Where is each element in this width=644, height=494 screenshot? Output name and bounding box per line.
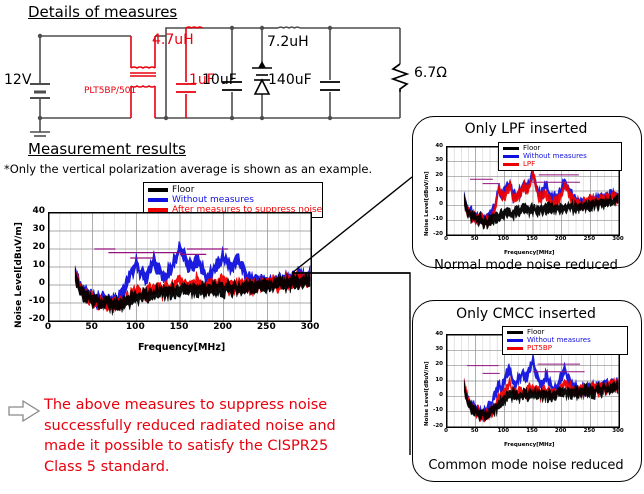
cmcc-chart-legend: Floor Without measures PLT5BP	[502, 326, 628, 355]
page-title-results: Measurement results	[28, 140, 186, 158]
lpf-chart-legend: Floor Without measures LPF	[498, 142, 622, 171]
y-tick-label: 0	[431, 201, 443, 207]
y-tick-label: 40	[431, 143, 443, 149]
legend-swatch-without-measures	[507, 339, 523, 342]
x-tick-label: 50	[461, 428, 489, 434]
x-tick-label: 50	[461, 236, 489, 242]
conclusion-text: The above measures to suppress noise suc…	[44, 395, 404, 477]
x-tick-label: 0	[432, 428, 460, 434]
x-tick-label: 150	[518, 428, 546, 434]
resistor-symbol	[393, 64, 407, 92]
x-tick-label: 0	[34, 322, 62, 332]
cmcc-panel-title: Only CMCC inserted	[412, 306, 640, 322]
y-tick-label: 10	[431, 187, 443, 193]
x-tick-label: 300	[604, 428, 632, 434]
circuit-label-10uf: 10uF	[202, 72, 237, 88]
main-chart-xlabel: Frequency[MHz]	[138, 342, 225, 353]
y-tick-label: 30	[431, 346, 443, 352]
page-title-details: Details of measures	[28, 3, 177, 21]
lpf-chart: Noise Level[dBuV/m] Floor Without measur…	[420, 140, 634, 262]
legend-item-lpf: LPF	[503, 161, 617, 169]
x-tick-label: 200	[209, 322, 237, 332]
legend-swatch-without-measures	[148, 198, 168, 202]
legend-swatch-floor	[507, 331, 523, 334]
lpf-panel-title: Only LPF inserted	[412, 121, 640, 137]
x-tick-label: 300	[604, 236, 632, 242]
legend-item-without-measures: Without measures	[503, 153, 617, 161]
arrow-right-icon	[8, 400, 40, 422]
cmcc-chart-ylabel: Noise Level[dBuV/m]	[424, 361, 430, 426]
conclusion-line-1: The above measures to suppress noise	[44, 395, 404, 416]
circuit-label-7p2uh: 7.2uH	[267, 34, 309, 50]
inductor-7p2uh-coil	[278, 27, 300, 28]
legend-label-plt5bp: PLT5BP	[527, 345, 552, 353]
circuit-label-140uf: 140uF	[268, 72, 312, 88]
y-tick-label: 0	[431, 392, 443, 398]
conclusion-line-2: successfully reduced radiated noise and	[44, 416, 404, 437]
x-tick-label: 250	[575, 428, 603, 434]
lpf-chart-ylabel: Noise Level[dBuV/m]	[424, 171, 430, 236]
y-tick-label: -10	[24, 296, 45, 306]
y-tick-label: -10	[431, 216, 443, 222]
circuit-label-source: 12V	[4, 72, 31, 88]
legend-swatch-without-measures	[503, 155, 519, 158]
x-tick-label: 100	[489, 428, 517, 434]
y-tick-label: 20	[24, 242, 45, 252]
x-tick-label: 100	[489, 236, 517, 242]
x-tick-label: 100	[121, 322, 149, 332]
x-tick-label: 200	[547, 236, 575, 242]
circuit-label-cmcc: PLT5BP/501	[84, 86, 136, 96]
conclusion-line-4: Class 5 standard.	[44, 457, 404, 478]
x-tick-label: 150	[165, 322, 193, 332]
y-tick-label: 20	[431, 361, 443, 367]
circuit-label-load: 6.7Ω	[414, 65, 447, 81]
cmcc-chart: Noise Level[dBuV/m] Floor Without measur…	[420, 326, 634, 454]
y-tick-label: 20	[431, 172, 443, 178]
lpf-chart-xlabel: Frequency[MHz]	[504, 250, 555, 256]
x-tick-label: 250	[252, 322, 280, 332]
legend-swatch-plt5bp	[507, 347, 523, 350]
y-tick-label: 30	[431, 157, 443, 163]
y-tick-label: -10	[431, 407, 443, 413]
y-tick-label: 10	[431, 377, 443, 383]
legend-item-plt5bp: PLT5BP	[507, 345, 623, 353]
circuit-label-4p7uh: 4.7uH	[152, 32, 194, 48]
legend-item-without-measures: Without measures	[507, 337, 623, 345]
lpf-panel-caption: Normal mode noise reduced	[412, 258, 640, 273]
y-tick-label: 40	[24, 206, 45, 216]
x-tick-label: 150	[518, 236, 546, 242]
x-tick-label: 250	[575, 236, 603, 242]
y-tick-label: 40	[431, 331, 443, 337]
main-chart-ylabel: Noise Level[dBuV/m]	[14, 222, 24, 328]
legend-swatch-floor	[503, 147, 519, 150]
conclusion-line-3: made it possible to satisfy the CISPR25	[44, 436, 404, 457]
y-tick-label: 30	[24, 224, 45, 234]
main-chart-canvas	[49, 213, 311, 321]
legend-label-lpf: LPF	[523, 161, 535, 169]
legend-label-without-measures: Without measures	[172, 195, 254, 205]
y-tick-label: 0	[24, 278, 45, 288]
legend-swatch-lpf	[503, 163, 519, 166]
x-tick-label: 0	[432, 236, 460, 242]
x-tick-label: 200	[547, 428, 575, 434]
legend-swatch-floor	[148, 188, 168, 192]
x-tick-label: 50	[78, 322, 106, 332]
cmcc-symbol	[130, 36, 156, 118]
y-tick-label: 10	[24, 260, 45, 270]
cmcc-chart-xlabel: Frequency[MHz]	[504, 442, 555, 448]
main-chart: Floor Without measures After measures to…	[8, 182, 328, 357]
cmcc-panel-caption: Common mode noise reduced	[412, 458, 640, 473]
main-chart-plot	[48, 212, 312, 322]
legend-label-floor: Floor	[172, 185, 194, 195]
